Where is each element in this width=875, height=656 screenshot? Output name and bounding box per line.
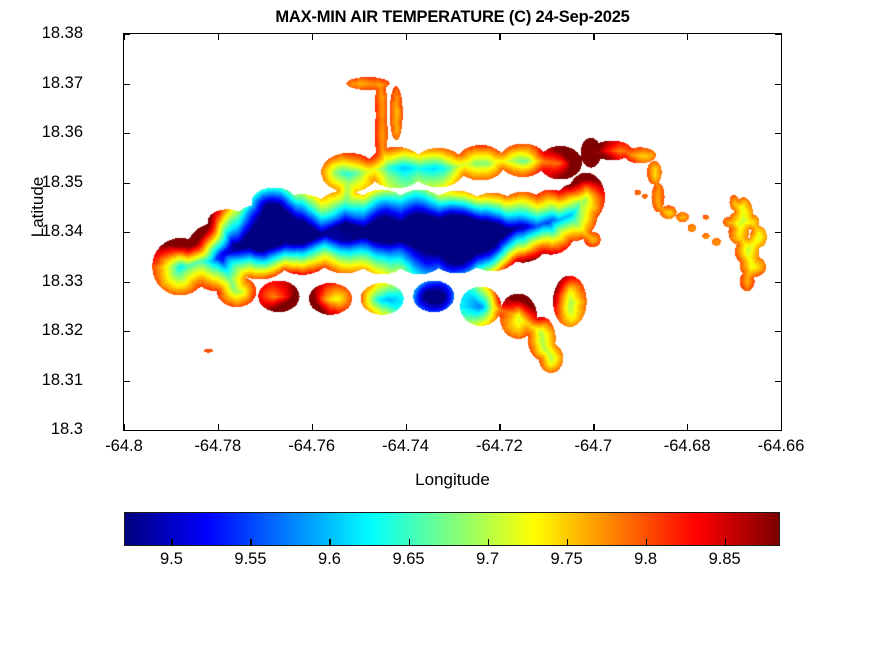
y-tick <box>124 183 130 184</box>
x-tick-label: -64.78 <box>173 438 263 455</box>
x-tick <box>593 424 594 430</box>
y-tick-label: 18.32 <box>11 322 83 339</box>
x-tick <box>406 34 407 40</box>
colorbar-tick-label: 9.6 <box>289 551 369 568</box>
y-tick <box>775 84 781 85</box>
x-tick <box>312 34 313 40</box>
colorbar-tick <box>567 539 568 546</box>
chart-title: MAX-MIN AIR TEMPERATURE (C) 24-Sep-2025 <box>123 8 782 27</box>
colorbar-tick <box>171 539 172 546</box>
x-tick <box>593 34 594 40</box>
colorbar-tick <box>725 539 726 546</box>
y-tick <box>124 381 130 382</box>
x-tick <box>687 34 688 40</box>
x-tick-label: -64.68 <box>642 438 732 455</box>
y-tick-label: 18.3 <box>11 421 83 438</box>
x-tick-label: -64.72 <box>454 438 544 455</box>
temperature-heatmap <box>124 34 781 430</box>
y-tick <box>775 183 781 184</box>
y-tick <box>124 430 130 431</box>
x-tick <box>124 424 125 430</box>
x-tick-label: -64.66 <box>736 438 826 455</box>
x-tick <box>499 424 500 430</box>
x-tick-label: -64.74 <box>361 438 451 455</box>
y-tick <box>775 430 781 431</box>
y-tick-label: 18.37 <box>11 75 83 92</box>
colorbar-tick <box>646 539 647 546</box>
y-tick <box>775 133 781 134</box>
y-tick <box>124 84 130 85</box>
y-tick-label: 18.38 <box>11 25 83 42</box>
colorbar-tick-label: 9.8 <box>606 551 686 568</box>
x-tick-label: -64.8 <box>79 438 169 455</box>
colorbar[interactable] <box>124 512 780 546</box>
colorbar-tick-label: 9.85 <box>685 551 765 568</box>
y-tick <box>775 331 781 332</box>
x-tick-label: -64.76 <box>267 438 357 455</box>
y-tick <box>775 282 781 283</box>
x-tick <box>687 424 688 430</box>
y-tick <box>775 381 781 382</box>
y-tick <box>124 232 130 233</box>
y-tick <box>124 282 130 283</box>
map-axes[interactable] <box>123 33 782 431</box>
colorbar-tick-label: 9.7 <box>448 551 528 568</box>
x-tick <box>781 424 782 430</box>
x-tick <box>218 424 219 430</box>
colorbar-tick <box>329 539 330 546</box>
x-tick <box>218 34 219 40</box>
y-tick <box>775 232 781 233</box>
x-tick <box>781 34 782 40</box>
colorbar-gradient <box>124 512 780 546</box>
y-tick <box>124 133 130 134</box>
x-tick <box>124 34 125 40</box>
x-tick <box>312 424 313 430</box>
x-tick-label: -64.7 <box>548 438 638 455</box>
colorbar-tick <box>488 539 489 546</box>
colorbar-tick-label: 9.55 <box>210 551 290 568</box>
colorbar-tick-label: 9.5 <box>131 551 211 568</box>
figure-canvas: MAX-MIN AIR TEMPERATURE (C) 24-Sep-2025 … <box>0 0 875 656</box>
colorbar-tick <box>250 539 251 546</box>
y-tick <box>124 331 130 332</box>
x-tick <box>406 424 407 430</box>
x-tick <box>499 34 500 40</box>
x-axis-title: Longitude <box>123 470 782 490</box>
colorbar-tick-label: 9.75 <box>527 551 607 568</box>
colorbar-tick <box>409 539 410 546</box>
colorbar-tick-label: 9.65 <box>369 551 449 568</box>
y-axis-title: Latitude <box>28 107 48 307</box>
y-tick-label: 18.31 <box>11 372 83 389</box>
